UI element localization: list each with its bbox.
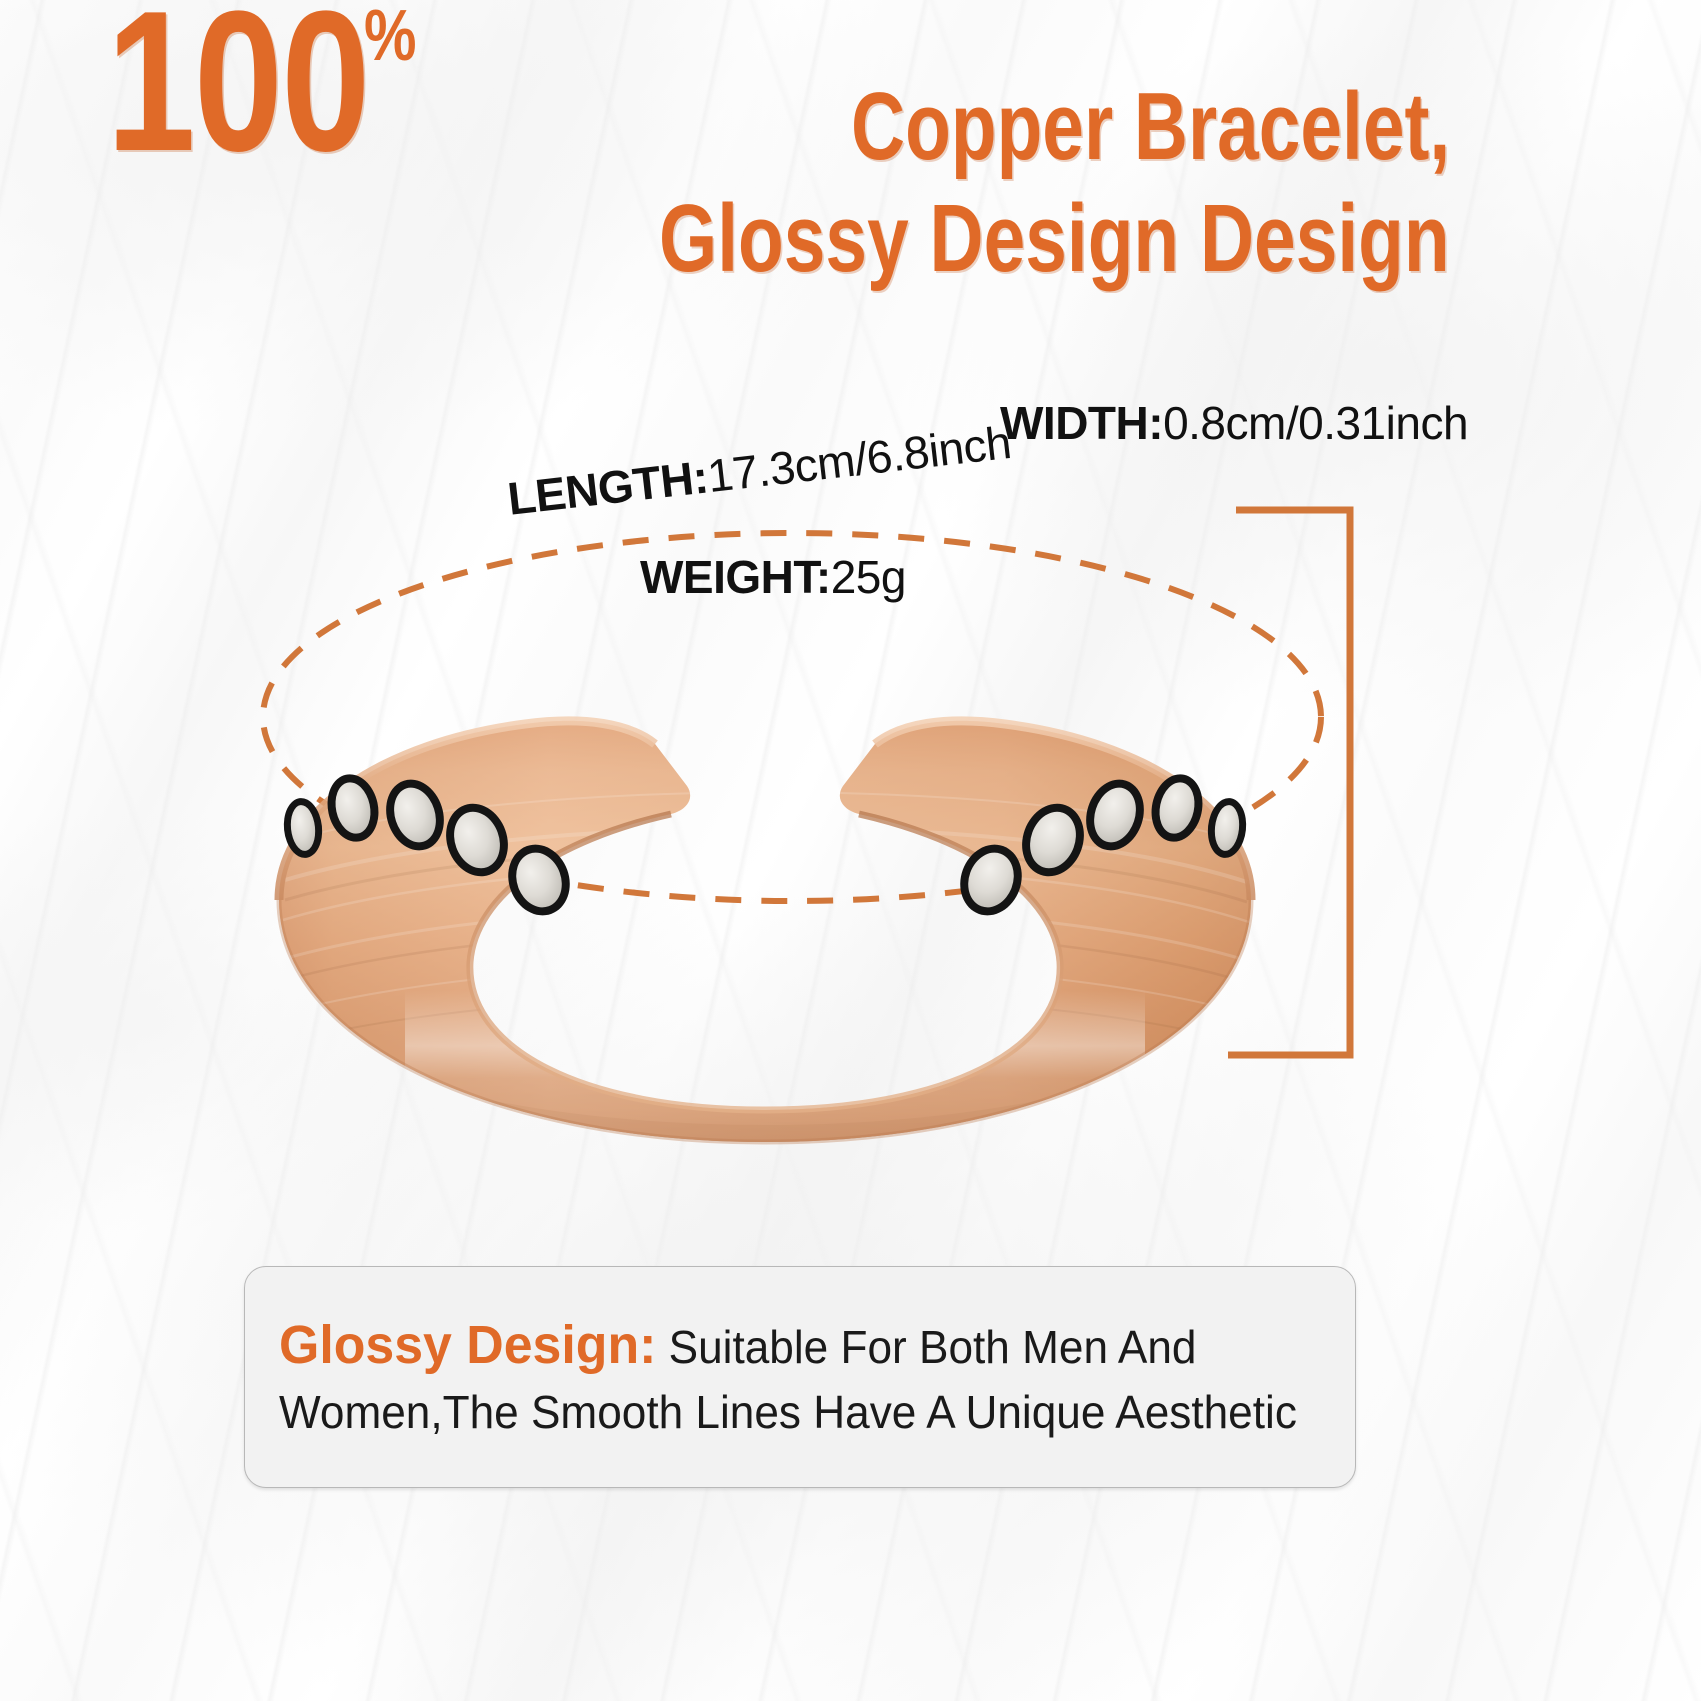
spec-weight-value: 25g [831, 551, 906, 603]
headline-line-2: Glossy Design Design [659, 190, 1450, 288]
caption-line-1: Glossy Design: Suitable For Both Men And [279, 1314, 1279, 1378]
bracelet-band [225, 690, 1305, 1160]
spec-width-key: WIDTH: [1000, 397, 1163, 449]
copper-bracelet-image [225, 690, 1305, 1160]
headline-text-group: Copper Bracelet, Glossy Design Design [436, 0, 1450, 288]
spec-weight-key: WEIGHT: [640, 551, 831, 603]
headline-line-1: Copper Bracelet, [851, 78, 1450, 176]
headline: 100 % Copper Bracelet, Glossy Design Des… [0, 0, 1450, 288]
headline-number: 100 [106, 0, 368, 164]
glossy-design-caption-card: Glossy Design: Suitable For Both Men And… [244, 1266, 1356, 1488]
caption-line-2: Women,The Smooth Lines Have A Unique Aes… [279, 1384, 1279, 1440]
spec-weight: WEIGHT:25g [640, 550, 906, 604]
caption-line-1-rest: Suitable For Both Men And [656, 1321, 1196, 1373]
headline-number-group: 100 % [41, 0, 429, 164]
caption-heading: Glossy Design: [279, 1315, 656, 1375]
headline-percent-symbol: % [364, 0, 417, 72]
spec-width: WIDTH:0.8cm/0.31inch [1000, 396, 1468, 450]
spec-width-value: 0.8cm/0.31inch [1163, 397, 1468, 449]
